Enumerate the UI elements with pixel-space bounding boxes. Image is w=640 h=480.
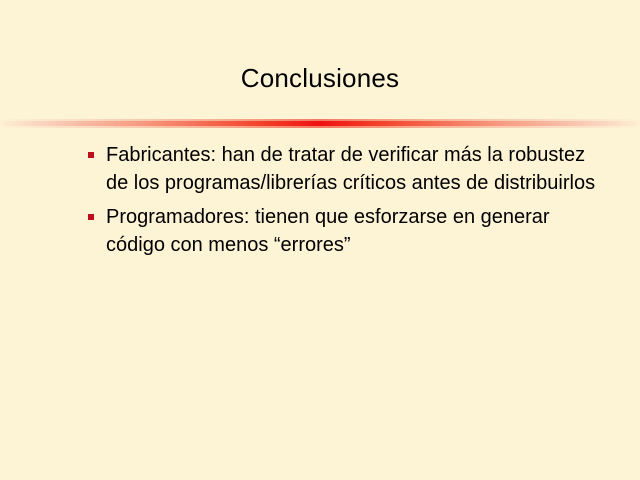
list-item: Programadores: tienen que esforzarse en … bbox=[80, 203, 600, 259]
page-title: Conclusiones bbox=[241, 62, 400, 94]
title-divider-rule bbox=[0, 119, 640, 128]
slide-title-area: Conclusiones bbox=[0, 62, 640, 94]
divider-core bbox=[0, 121, 640, 126]
square-bullet-icon bbox=[88, 214, 94, 220]
presentation-slide: Conclusiones Fabricantes: han de tratar … bbox=[0, 0, 640, 480]
square-bullet-icon bbox=[88, 152, 94, 158]
slide-body: Fabricantes: han de tratar de verificar … bbox=[80, 141, 600, 259]
list-item: Fabricantes: han de tratar de verificar … bbox=[80, 141, 600, 197]
list-item-label: Fabricantes: han de tratar de verificar … bbox=[106, 141, 600, 197]
list-item-label: Programadores: tienen que esforzarse en … bbox=[106, 203, 600, 259]
